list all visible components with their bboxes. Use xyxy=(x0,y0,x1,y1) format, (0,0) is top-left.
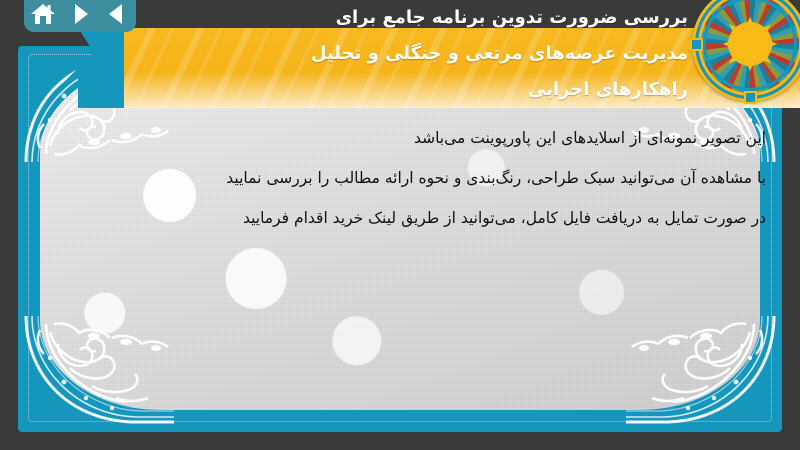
body-line-2: با مشاهده آن می‌توانید سبک طراحی، رنگ‌بن… xyxy=(66,158,766,198)
slide-canvas: بررسی ضرورت تدوین برنامه جامع برای مدیری… xyxy=(0,0,800,450)
home-button[interactable] xyxy=(29,0,57,28)
slide-body-text: این تصویر نمونه‌ای از اسلایدهای این پاور… xyxy=(66,118,766,238)
previous-slide-button[interactable] xyxy=(103,0,131,28)
body-line-3: در صورت تمایل به دریافت فایل کامل، می‌تو… xyxy=(66,198,766,238)
medallion-node-left xyxy=(690,38,703,51)
slide-header: بررسی ضرورت تدوین برنامه جامع برای مدیری… xyxy=(0,0,800,110)
title-line-3: راهکارهای اجرایی xyxy=(128,72,688,108)
body-line-1: این تصویر نمونه‌ای از اسلایدهای این پاور… xyxy=(66,118,766,158)
next-slide-button[interactable] xyxy=(66,0,94,28)
title-line-1: بررسی ضرورت تدوین برنامه جامع برای xyxy=(128,0,688,36)
medallion-star-icon xyxy=(723,17,777,71)
arabesque-corner-bottom-left-icon xyxy=(24,313,174,428)
navigation-bar xyxy=(24,0,136,32)
title-line-2: مدیریت عرصه‌های مرتعی و جنگلی و تحلیل xyxy=(128,36,688,72)
medallion-node-bottom xyxy=(744,91,757,104)
arabesque-corner-bottom-right-icon xyxy=(626,313,776,428)
slide-title: بررسی ضرورت تدوین برنامه جامع برای مدیری… xyxy=(128,0,688,108)
